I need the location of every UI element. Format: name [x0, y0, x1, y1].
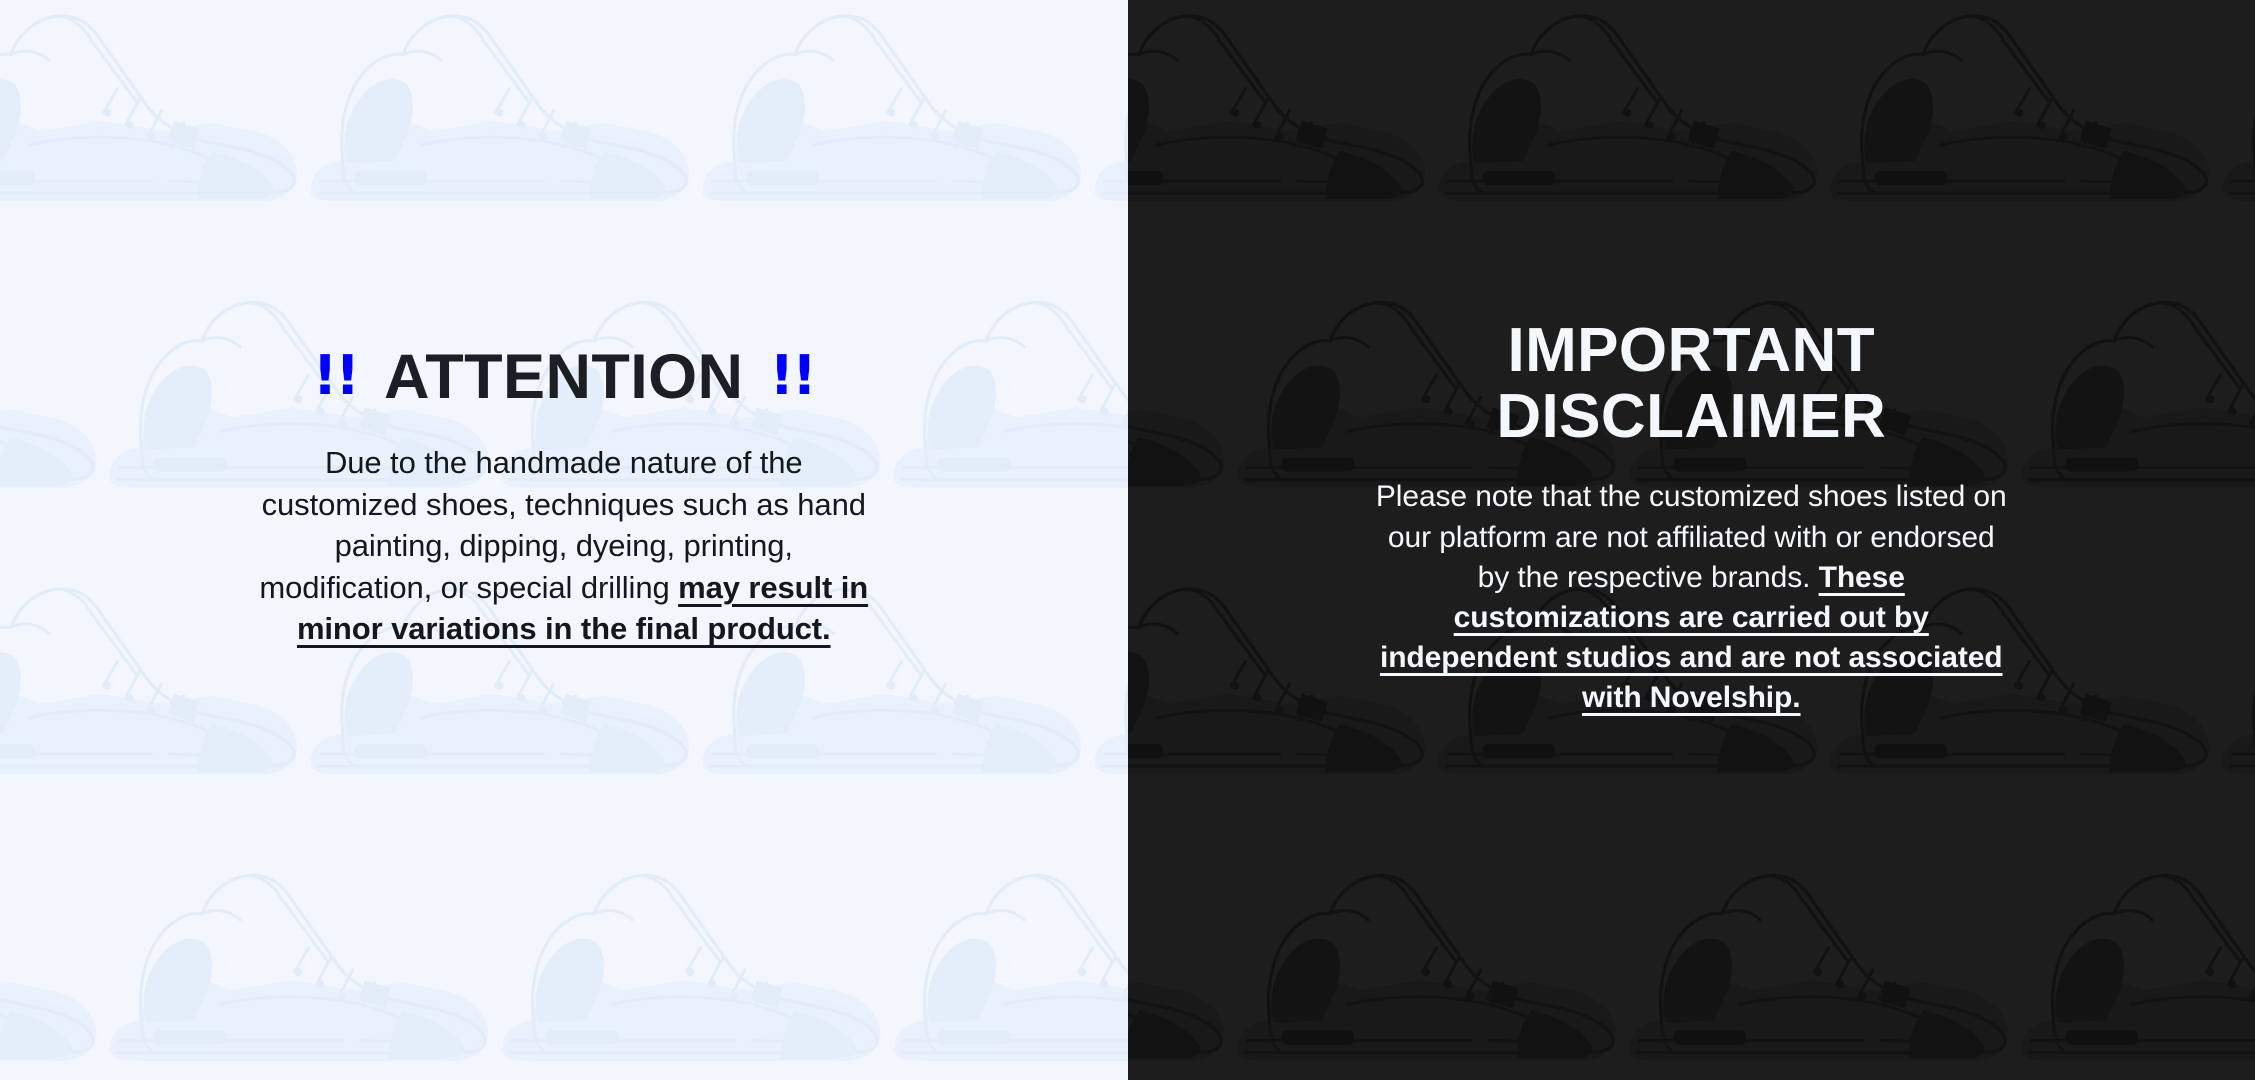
disclaimer-panel: IMPORTANT DISCLAIMER Please note that th…	[1128, 0, 2255, 1080]
disclaimer-heading-line2: DISCLAIMER	[1496, 382, 1886, 451]
disclaimer-heading-line1: IMPORTANT	[1507, 316, 1875, 385]
attention-heading-label: ATTENTION	[384, 346, 743, 409]
disclaimer-body-plain: Please note that the customized shoes li…	[1376, 480, 2007, 593]
disclaimer-content: IMPORTANT DISCLAIMER Please note that th…	[1128, 0, 2255, 719]
double-exclamation-icon-left: !!	[313, 349, 358, 403]
attention-panel: !! ATTENTION !! Due to the handmade natu…	[0, 0, 1128, 1080]
attention-body: Due to the handmade nature of the custom…	[254, 442, 874, 650]
disclaimer-body: Please note that the customized shoes li…	[1371, 477, 2011, 718]
attention-heading: !! ATTENTION !!	[313, 346, 815, 409]
disclaimer-heading: IMPORTANT DISCLAIMER	[1496, 318, 1886, 449]
double-exclamation-icon-right: !!	[769, 349, 814, 403]
attention-content: !! ATTENTION !! Due to the handmade natu…	[0, 0, 1128, 650]
